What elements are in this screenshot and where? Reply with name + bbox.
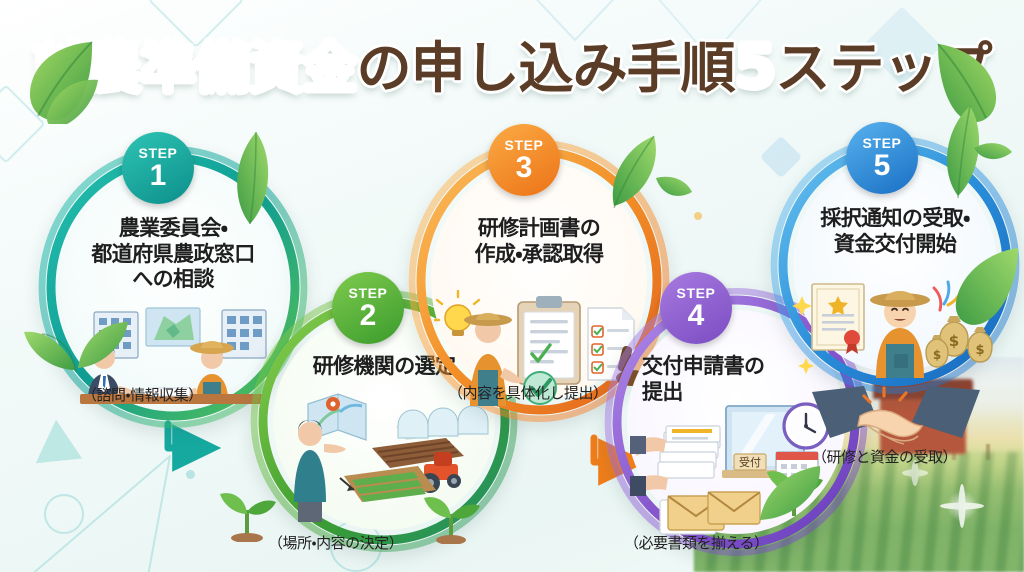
triangle-filled-decor (36, 420, 93, 480)
lightbulb-icon (434, 291, 482, 336)
step-5-badge-number: 5 (874, 151, 891, 181)
step-2-badge-label: STEP (349, 286, 388, 300)
leaf-icon (26, 38, 104, 124)
step-2-badge: STEP 2 (332, 272, 404, 344)
step-4-badge: STEP 4 (660, 272, 732, 344)
dot-decor (694, 212, 702, 220)
dot-decor (186, 470, 195, 479)
step-1-caption: （諮問・情報収集） (82, 384, 203, 405)
svg-text:$: $ (975, 343, 984, 358)
step-5-badge-label: STEP (863, 136, 902, 150)
step-1-badge-number: 1 (150, 161, 167, 191)
step-4-caption: （必要書類を揃える） (624, 532, 769, 553)
step-1-badge-label: STEP (139, 146, 178, 160)
seedling-icon (216, 470, 278, 542)
svg-text:$: $ (949, 332, 959, 350)
clipboard-icon (518, 296, 580, 384)
step-3-badge-label: STEP (505, 138, 544, 152)
step-5-badge: STEP 5 (846, 122, 918, 194)
leaf-sprout-icon (20, 278, 132, 374)
step-4-badge-number: 4 (688, 301, 705, 331)
envelopes-icon (660, 492, 760, 534)
document-stack (658, 426, 720, 478)
leaf-icon (756, 454, 836, 526)
infographic-canvas: 就農準備資金の申し込み手順5ステップ (0, 0, 1024, 572)
circle-outline-decor (44, 494, 84, 534)
leaf-sprout-icon (596, 122, 692, 218)
step-3-badge-number: 3 (516, 153, 533, 183)
title-segment-brown: の申し込み手順 (357, 36, 735, 100)
title-segment-number: 5 (735, 32, 776, 102)
sparkle-icon (798, 358, 814, 374)
step-3-badge: STEP 3 (488, 124, 560, 196)
leaf-icon (940, 240, 1024, 326)
triangle-outline-decor (10, 450, 210, 572)
page-title: 就農準備資金の申し込み手順5ステップ (0, 24, 1024, 102)
farmer-celebrating-figure (870, 291, 930, 378)
leaf-icon (924, 96, 1014, 200)
step-2-badge-number: 2 (360, 301, 377, 331)
svg-text:$: $ (933, 348, 941, 362)
step-4-badge-label: STEP (677, 286, 716, 300)
title-text: 就農準備資金の申し込み手順5ステップ (33, 23, 992, 103)
leaf-sprout-icon (210, 116, 306, 228)
step-3-caption: （内容を具体化し提出） (448, 382, 608, 403)
step-1-badge: STEP 1 (122, 132, 194, 204)
sparkle-icon (940, 484, 984, 528)
step-2-caption: （場所・内容の決定） (268, 532, 403, 553)
sparkle-icon (792, 296, 812, 316)
step-3-title: 研修計画書の 作成・承認取得 (475, 216, 604, 267)
certificate-icon (812, 284, 864, 354)
seedling-icon (420, 476, 482, 544)
person-figure (294, 420, 346, 522)
